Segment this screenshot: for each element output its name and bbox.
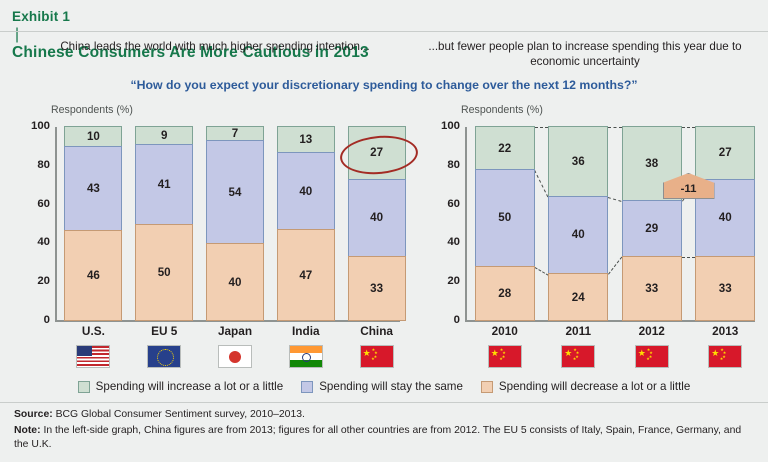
- stacked-bar[interactable]: 134047: [277, 127, 335, 321]
- china-flag: ★★★★★: [708, 345, 742, 368]
- bar-slot-2011[interactable]: 364024: [542, 127, 616, 321]
- bar-segment-same[interactable]: 29: [622, 200, 682, 257]
- legend-swatch-dec: [481, 381, 493, 393]
- x-label-cell: U.S.: [58, 324, 129, 368]
- delta-arrow-annotation: -11: [663, 173, 715, 199]
- us-flag: [76, 345, 110, 368]
- y-axis-left: [55, 127, 57, 321]
- x-label-cell: Japan: [200, 324, 271, 368]
- bar-slot-china[interactable]: 274033: [341, 127, 412, 321]
- stacked-bar[interactable]: 225028: [475, 127, 535, 321]
- stacked-bar[interactable]: 94150: [135, 127, 193, 321]
- bar-segment-dec[interactable]: 40: [206, 243, 264, 321]
- x-label-cell: EU 5: [129, 324, 200, 368]
- bar-segment-same[interactable]: 40: [348, 179, 406, 257]
- x-axis-label: 2010: [468, 324, 542, 338]
- bar-segment-dec[interactable]: 46: [64, 230, 122, 321]
- eu-flag: [147, 345, 181, 368]
- y-tick-20: 20: [22, 275, 50, 287]
- flag-wrap: ★★★★★: [341, 345, 412, 368]
- bar-segment-inc[interactable]: 9: [135, 126, 193, 145]
- bar-segment-dec[interactable]: 33: [348, 256, 406, 321]
- flag-wrap: [58, 345, 129, 368]
- india-flag: [289, 345, 323, 368]
- bar-segment-same[interactable]: 43: [64, 146, 122, 231]
- legend-swatch-inc: [78, 381, 90, 393]
- stacked-bar[interactable]: 382933: [622, 127, 682, 321]
- general-note: Note: In the left-side graph, China figu…: [14, 424, 756, 453]
- bar-segment-inc[interactable]: 27: [348, 126, 406, 180]
- bar-segment-same[interactable]: 50: [475, 169, 535, 267]
- x-label-group-left: U.S.EU 5JapanIndiaChina★★★★★: [58, 324, 412, 368]
- bar-segment-same[interactable]: 54: [206, 140, 264, 244]
- x-axis-label: 2011: [542, 324, 616, 338]
- legend: Spending will increase a lot or a little…: [0, 380, 768, 393]
- legend-label: Spending will decrease a lot or a little: [499, 380, 690, 393]
- bar-slot-eu-5[interactable]: 94150: [129, 127, 200, 321]
- x-axis-label: India: [270, 324, 341, 338]
- china-flag: ★★★★★: [360, 345, 394, 368]
- source-note: Source: BCG Global Consumer Sentiment su…: [14, 408, 756, 423]
- y-tick-100: 100: [432, 120, 460, 132]
- china-flag: ★★★★★: [635, 345, 669, 368]
- exhibit-label: Exhibit 1: [12, 9, 70, 24]
- bar-segment-dec[interactable]: 28: [475, 266, 535, 321]
- legend-item[interactable]: Spending will increase a lot or a little: [78, 380, 284, 393]
- y-tick-40: 40: [22, 236, 50, 248]
- x-label-cell: 2010★★★★★: [468, 324, 542, 368]
- legend-label: Spending will increase a lot or a little: [96, 380, 284, 393]
- bar-group-right: 225028364024382933274033: [468, 127, 762, 321]
- x-label-cell: China★★★★★: [341, 324, 412, 368]
- bar-segment-inc[interactable]: 27: [695, 126, 755, 180]
- header-divider: [0, 31, 768, 32]
- footnotes: Source: BCG Global Consumer Sentiment su…: [14, 408, 756, 454]
- y-tick-80: 80: [22, 159, 50, 171]
- y-tick-60: 60: [22, 198, 50, 210]
- x-axis-label: EU 5: [129, 324, 200, 338]
- legend-label: Spending will stay the same: [319, 380, 463, 393]
- note-text: In the left-side graph, China figures ar…: [14, 425, 741, 451]
- flag-wrap: ★★★★★: [468, 345, 542, 368]
- bar-segment-inc[interactable]: 7: [206, 126, 264, 141]
- x-label-cell: 2012★★★★★: [615, 324, 689, 368]
- y-tick-100: 100: [22, 120, 50, 132]
- bar-segment-dec[interactable]: 50: [135, 224, 193, 322]
- bar-segment-dec[interactable]: 47: [277, 229, 335, 321]
- subhead-left: China leads the world with much higher s…: [60, 39, 370, 54]
- y-tick-40: 40: [432, 236, 460, 248]
- x-axis-label: 2012: [615, 324, 689, 338]
- y-tick-0: 0: [432, 314, 460, 326]
- bar-segment-dec[interactable]: 33: [695, 256, 755, 321]
- china-flag: ★★★★★: [488, 345, 522, 368]
- y-tick-0: 0: [22, 314, 50, 326]
- bar-slot-2010[interactable]: 225028: [468, 127, 542, 321]
- exhibit-page: Exhibit 1|Chinese Consumers Are More Cau…: [0, 0, 768, 462]
- flag-wrap: ★★★★★: [615, 345, 689, 368]
- note-label: Note:: [14, 425, 41, 436]
- stacked-bar[interactable]: 274033: [695, 127, 755, 321]
- flag-wrap: [270, 345, 341, 368]
- bar-slot-2012[interactable]: 382933: [615, 127, 689, 321]
- bar-group-left: 1043469415075440134047274033: [58, 127, 412, 321]
- flag-wrap: [200, 345, 271, 368]
- y-tick-20: 20: [432, 275, 460, 287]
- china-flag: ★★★★★: [561, 345, 595, 368]
- bar-segment-inc[interactable]: 22: [475, 126, 535, 170]
- x-label-cell: 2011★★★★★: [542, 324, 616, 368]
- legend-item[interactable]: Spending will decrease a lot or a little: [481, 380, 690, 393]
- bar-segment-same[interactable]: 40: [548, 196, 608, 274]
- bar-slot-2013[interactable]: 274033: [689, 127, 763, 321]
- bar-segment-same[interactable]: 41: [135, 144, 193, 224]
- x-axis-label: 2013: [689, 324, 763, 338]
- bar-segment-dec[interactable]: 24: [548, 273, 608, 321]
- bar-segment-dec[interactable]: 33: [622, 256, 682, 321]
- bar-slot-u-s-[interactable]: 104346: [58, 127, 129, 321]
- chart-right: Respondents (%) 100806040200 22502836402…: [432, 104, 762, 329]
- footer-divider: [0, 402, 768, 403]
- flag-wrap: ★★★★★: [542, 345, 616, 368]
- chart-left: Respondents (%) 100806040200 10434694150…: [22, 104, 412, 329]
- legend-item[interactable]: Spending will stay the same: [301, 380, 463, 393]
- flag-wrap: [129, 345, 200, 368]
- bar-slot-japan[interactable]: 75440: [200, 127, 271, 321]
- x-axis-label: China: [341, 324, 412, 338]
- delta-value-label: -11: [663, 173, 715, 199]
- bar-segment-same[interactable]: 40: [277, 152, 335, 230]
- japan-flag: [218, 345, 252, 368]
- x-axis-label: U.S.: [58, 324, 129, 338]
- stacked-bar[interactable]: 274033: [348, 127, 406, 321]
- stacked-bar[interactable]: 104346: [64, 127, 122, 321]
- y-axis-label-left: Respondents (%): [51, 104, 412, 116]
- x-axis-label: Japan: [200, 324, 271, 338]
- y-tick-60: 60: [432, 198, 460, 210]
- source-text: BCG Global Consumer Sentiment survey, 20…: [53, 409, 305, 420]
- y-axis-label-right: Respondents (%): [461, 104, 762, 116]
- subhead-right: ...but fewer people plan to increase spe…: [420, 39, 750, 69]
- x-label-cell: India: [270, 324, 341, 368]
- bar-segment-inc[interactable]: 36: [548, 126, 608, 197]
- flag-wrap: ★★★★★: [689, 345, 763, 368]
- source-label: Source:: [14, 409, 53, 420]
- bar-slot-india[interactable]: 134047: [270, 127, 341, 321]
- stacked-bar[interactable]: 364024: [548, 127, 608, 321]
- x-label-group-right: 2010★★★★★2011★★★★★2012★★★★★2013★★★★★: [468, 324, 762, 368]
- legend-swatch-same: [301, 381, 313, 393]
- x-label-cell: 2013★★★★★: [689, 324, 763, 368]
- y-axis-right: [465, 127, 467, 321]
- y-tick-80: 80: [432, 159, 460, 171]
- stacked-bar[interactable]: 75440: [206, 127, 264, 321]
- survey-question: “How do you expect your discretionary sp…: [0, 78, 768, 92]
- bar-segment-inc[interactable]: 13: [277, 126, 335, 153]
- bar-segment-inc[interactable]: 10: [64, 126, 122, 147]
